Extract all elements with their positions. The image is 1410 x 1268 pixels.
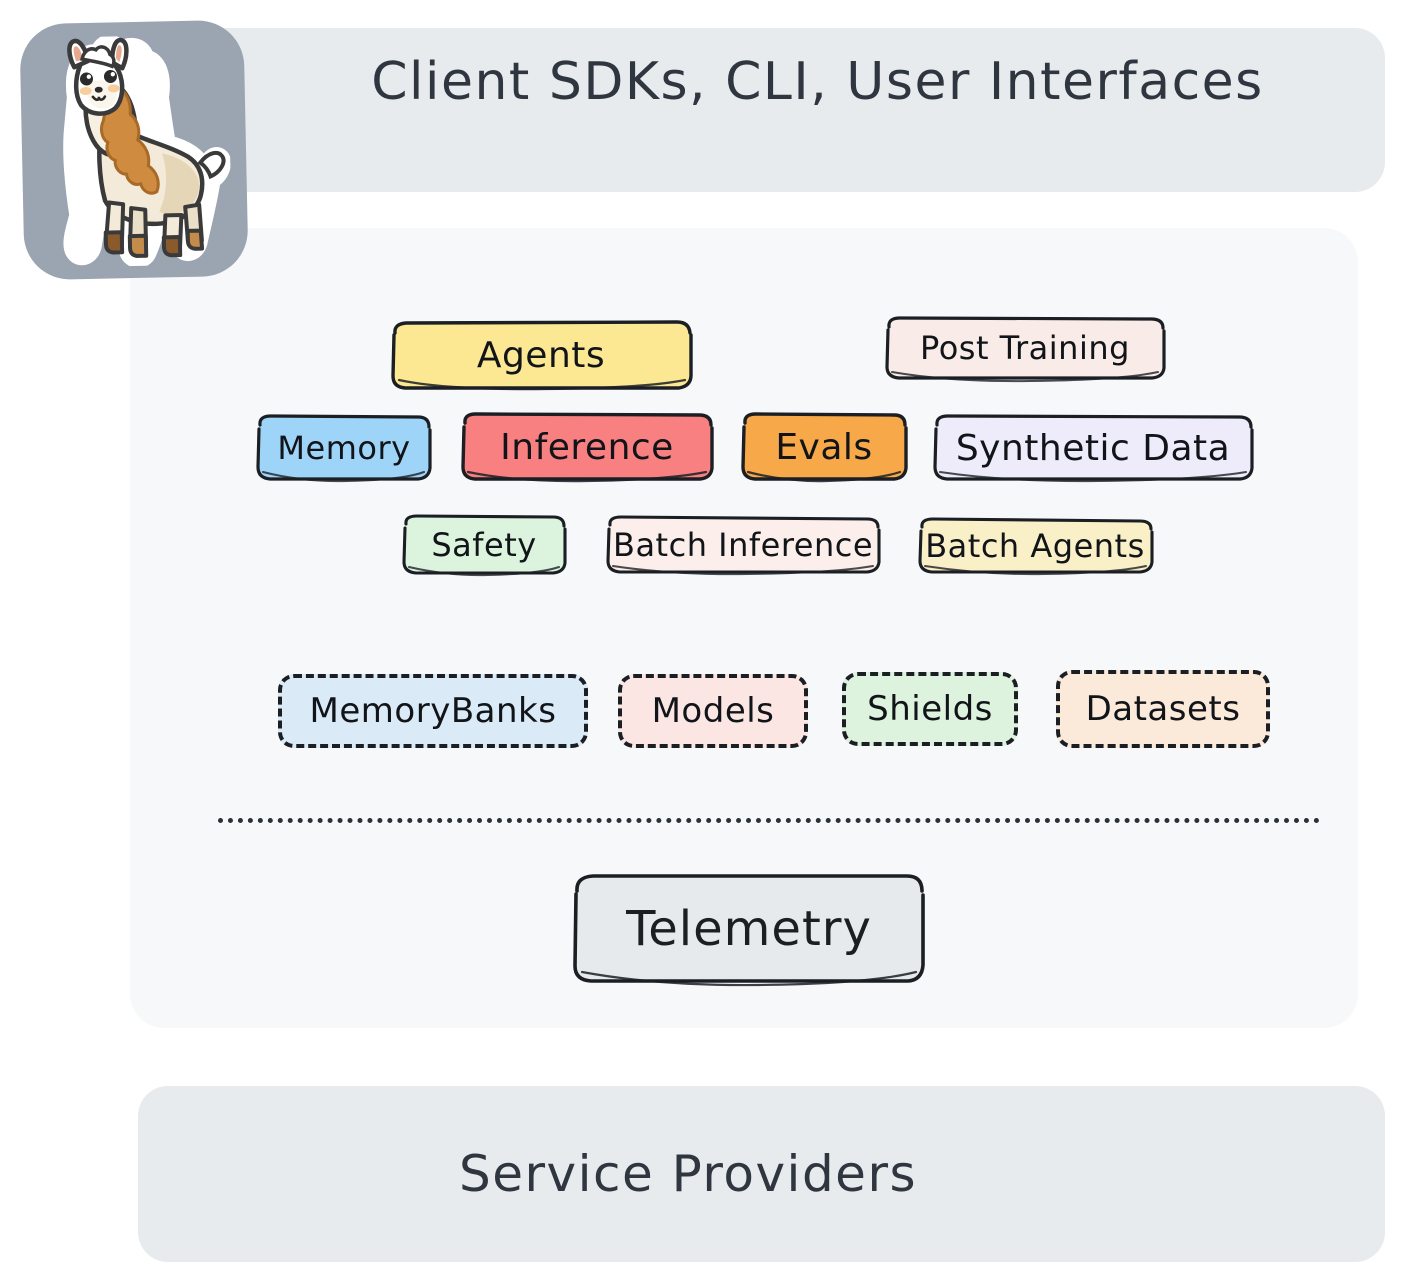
api-box-batch-agents[interactable]: Batch Agents [914, 516, 1156, 576]
rough-rect [398, 512, 570, 578]
rough-rect [914, 516, 1156, 576]
api-box-memory[interactable]: Memory [252, 412, 436, 484]
client-layer-title: Client SDKs, CLI, User Interfaces [250, 0, 1385, 164]
rough-rect [456, 410, 718, 484]
resource-box-shields[interactable]: Shields [842, 672, 1018, 746]
rough-rect [736, 410, 912, 484]
rough-rect [385, 318, 697, 392]
llama-logo-tile [19, 20, 248, 281]
service-providers-title: Service Providers [138, 1086, 1238, 1262]
api-box-synthetic-data[interactable]: Synthetic Data [928, 412, 1258, 484]
resource-box-memorybanks[interactable]: MemoryBanks [278, 674, 588, 748]
rough-rect [602, 514, 884, 576]
resource-box-label: Shields [867, 689, 993, 729]
api-box-post-training[interactable]: Post Training [880, 314, 1170, 382]
api-box-batch-inference[interactable]: Batch Inference [602, 514, 884, 576]
rough-rect [928, 412, 1258, 484]
diagram-canvas: Client SDKs, CLI, User Interfaces [0, 0, 1410, 1268]
api-box-safety[interactable]: Safety [398, 512, 570, 578]
api-box-agents[interactable]: Agents [385, 318, 697, 392]
resource-box-label: Datasets [1086, 689, 1241, 729]
rough-rect [880, 314, 1170, 382]
resource-box-datasets[interactable]: Datasets [1056, 670, 1270, 748]
resource-box-models[interactable]: Models [618, 674, 808, 748]
section-divider [218, 818, 1320, 823]
api-box-evals[interactable]: Evals [736, 410, 912, 484]
api-box-inference[interactable]: Inference [456, 410, 718, 484]
rough-rect [252, 412, 436, 484]
telemetry-box[interactable]: Telemetry [568, 868, 930, 990]
llama-logo-icon [40, 34, 233, 268]
telemetry-label: Telemetry [568, 868, 930, 990]
resource-box-label: Models [652, 691, 775, 731]
resource-box-label: MemoryBanks [310, 691, 557, 731]
